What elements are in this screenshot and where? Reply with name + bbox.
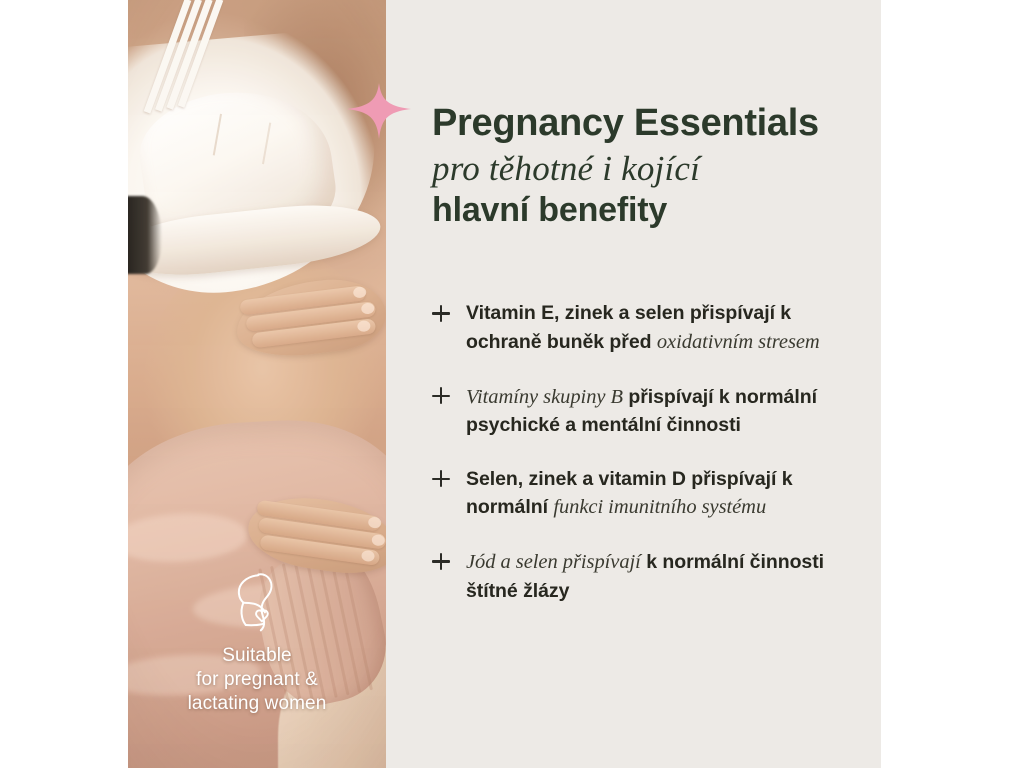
benefit-text: Vitamin E, zinek a selen přispívají k oc… (466, 300, 862, 357)
benefit-text: Selen, zinek a vitamin D přispívají k no… (466, 466, 862, 523)
badge-caption-line-3: lactating women (138, 692, 376, 716)
title-line-2: pro těhotné i kojící (432, 149, 882, 190)
page-title: Pregnancy Essentials pro těhotné i kojíc… (432, 103, 882, 230)
benefit-item: Vitamin E, zinek a selen přispívají k oc… (432, 300, 862, 357)
title-line-1: Pregnancy Essentials (432, 103, 882, 145)
title-line-3: hlavní benefity (432, 191, 882, 230)
plus-icon (432, 470, 450, 492)
benefit-text: Vitamíny skupiny B přispívají k normální… (466, 383, 862, 440)
plus-icon (432, 304, 450, 326)
benefit-emphasis: funkci imunitního systému (553, 496, 766, 518)
benefit-item: Vitamíny skupiny B přispívají k normální… (432, 383, 862, 440)
badge-caption-line-1: Suitable (138, 644, 376, 668)
badge-caption-line-2: for pregnant & (138, 668, 376, 692)
benefit-emphasis: oxidativním stresem (657, 331, 820, 353)
benefit-item: Jód a selen přispívají k normální činnos… (432, 548, 862, 605)
four-point-star-icon (347, 83, 411, 139)
content-panel: Pregnancy Essentials pro těhotné i kojíc… (386, 0, 881, 768)
plus-icon (432, 387, 450, 409)
badge-caption: Suitable for pregnant & lactating women (128, 644, 386, 716)
benefit-emphasis: Jód a selen přispívají (466, 551, 641, 573)
suitability-badge: Suitable for pregnant & lactating women (128, 570, 386, 716)
poster-root: Suitable for pregnant & lactating women … (0, 0, 1024, 768)
benefit-text: Jód a selen přispívají k normální činnos… (466, 548, 862, 605)
benefit-item: Selen, zinek a vitamin D přispívají k no… (432, 466, 862, 523)
plus-icon (432, 552, 450, 574)
benefit-emphasis: Vitamíny skupiny B (466, 386, 623, 408)
photo-bra-seam (213, 114, 272, 164)
pregnant-woman-heart-icon (228, 570, 286, 634)
benefits-list: Vitamin E, zinek a selen přispívají k oc… (432, 300, 862, 605)
